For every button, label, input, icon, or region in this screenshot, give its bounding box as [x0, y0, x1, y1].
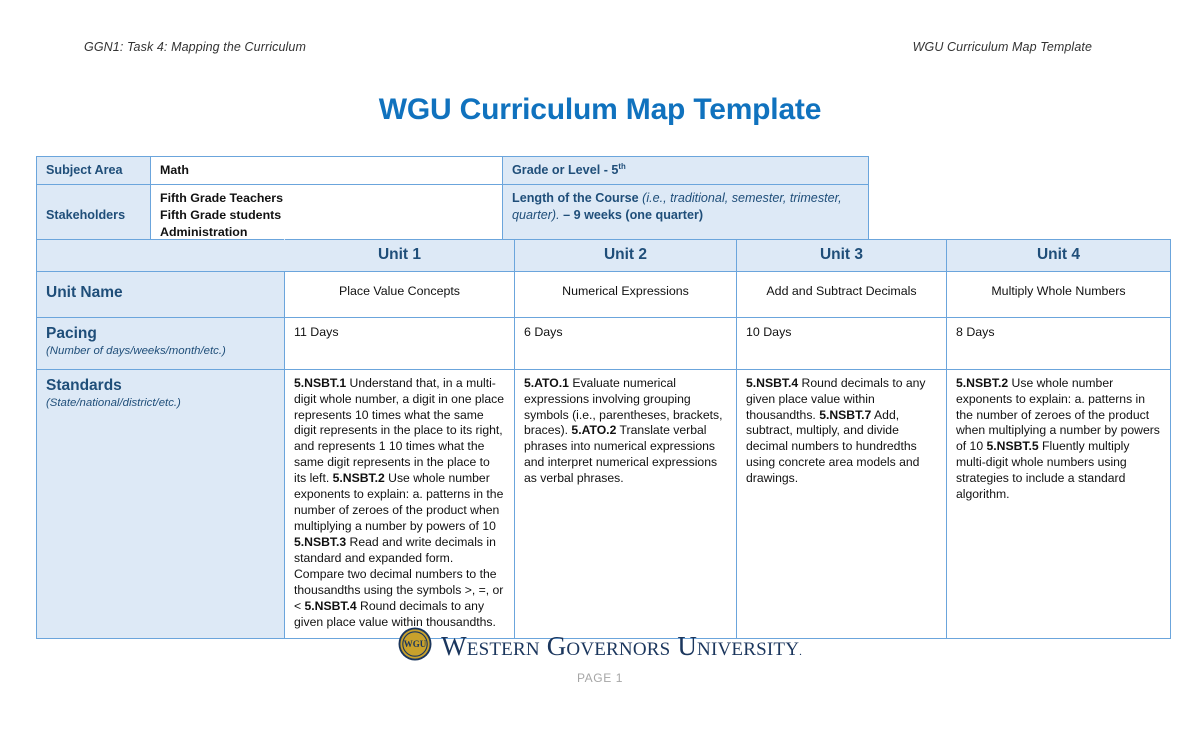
- unit-name-label: Unit Name: [37, 272, 285, 318]
- document-footer: WGU Western Governors University.: [0, 626, 1200, 666]
- header-right-text: WGU Curriculum Map Template: [913, 40, 1092, 54]
- unit-name-value-3[interactable]: Add and Subtract Decimals: [737, 272, 947, 318]
- wgu-logo: WGU Western Governors University.: [398, 626, 802, 666]
- standard-code: 5.NSBT.2: [333, 471, 385, 485]
- page-number: PAGE 1: [0, 671, 1200, 685]
- pacing-label-cell: Pacing (Number of days/weeks/month/etc.): [37, 317, 285, 369]
- unit-header-2: Unit 2: [515, 240, 737, 272]
- wgu-logo-wordmark: Western Governors University.: [441, 631, 802, 662]
- wgu-logo-text: Western Governors University: [441, 631, 799, 661]
- length-of-course-cell[interactable]: Length of the Course (i.e., traditional,…: [503, 185, 869, 247]
- wgu-logo-mark: .: [799, 646, 802, 658]
- grade-or-level-label: Grade or Level - 5: [512, 163, 618, 177]
- length-of-course-label: Length of the Course: [512, 191, 639, 205]
- stakeholder-item: Fifth Grade Teachers: [160, 190, 494, 207]
- standards-value-3[interactable]: 5.NSBT.4 Round decimals to any given pla…: [737, 369, 947, 639]
- standards-value-4[interactable]: 5.NSBT.2 Use whole number exponents to e…: [947, 369, 1171, 639]
- table-row-unit-headers: Unit 1 Unit 2 Unit 3 Unit 4: [37, 240, 1171, 272]
- document-header: GGN1: Task 4: Mapping the Curriculum WGU…: [84, 40, 1092, 54]
- stakeholder-item: Fifth Grade students: [160, 207, 494, 224]
- table-row-unit-name: Unit Name Place Value Concepts Numerical…: [37, 272, 1171, 318]
- pacing-value-1[interactable]: 11 Days: [285, 317, 515, 369]
- standard-code: 5.NSBT.4: [305, 599, 357, 613]
- subject-area-value[interactable]: Math: [151, 157, 503, 185]
- length-of-course-value: – 9 weeks (one quarter): [560, 208, 703, 222]
- subject-area-label: Subject Area: [37, 157, 151, 185]
- standard-text: Understand that, in a multi-digit whole …: [294, 376, 504, 486]
- standard-code: 5.NSBT.2: [956, 376, 1008, 390]
- pacing-sublabel: (Number of days/weeks/month/etc.): [46, 345, 276, 359]
- unit-header-spacer: [37, 240, 285, 272]
- page-title: WGU Curriculum Map Template: [0, 93, 1200, 127]
- pacing-value-2[interactable]: 6 Days: [515, 317, 737, 369]
- unit-header-3: Unit 3: [737, 240, 947, 272]
- header-left-text: GGN1: Task 4: Mapping the Curriculum: [84, 40, 306, 54]
- table-row-stakeholders-length: Stakeholders Fifth Grade Teachers Fifth …: [37, 185, 869, 247]
- standards-value-1[interactable]: 5.NSBT.1 Understand that, in a multi-dig…: [285, 369, 515, 639]
- course-info-table: Subject Area Math Grade or Level - 5th S…: [36, 156, 869, 247]
- standard-code: 5.ATO.1: [524, 376, 569, 390]
- standard-code: 5.NSBT.7: [819, 408, 871, 422]
- document-page: GGN1: Task 4: Mapping the Curriculum WGU…: [0, 0, 1200, 729]
- standards-value-2[interactable]: 5.ATO.1 Evaluate numerical expressions i…: [515, 369, 737, 639]
- standard-code: 5.NSBT.3: [294, 535, 346, 549]
- standards-label-cell: Standards (State/national/district/etc.): [37, 369, 285, 639]
- stakeholders-label: Stakeholders: [37, 185, 151, 247]
- standard-code: 5.NSBT.1: [294, 376, 346, 390]
- pacing-value-3[interactable]: 10 Days: [737, 317, 947, 369]
- unit-name-value-1[interactable]: Place Value Concepts: [285, 272, 515, 318]
- grade-or-level-cell[interactable]: Grade or Level - 5th: [503, 157, 869, 185]
- pacing-value-4[interactable]: 8 Days: [947, 317, 1171, 369]
- curriculum-unit-table: Unit 1 Unit 2 Unit 3 Unit 4 Unit Name Pl…: [36, 239, 1171, 639]
- unit-name-value-4[interactable]: Multiply Whole Numbers: [947, 272, 1171, 318]
- pacing-label: Pacing: [46, 325, 97, 342]
- standard-code: 5.NSBT.4: [746, 376, 798, 390]
- stakeholders-value[interactable]: Fifth Grade Teachers Fifth Grade student…: [151, 185, 503, 247]
- standards-label: Standards: [46, 377, 122, 394]
- svg-text:WGU: WGU: [404, 639, 427, 649]
- unit-header-4: Unit 4: [947, 240, 1171, 272]
- unit-name-value-2[interactable]: Numerical Expressions: [515, 272, 737, 318]
- standard-code: 5.ATO.2: [571, 423, 616, 437]
- table-row-subject-grade: Subject Area Math Grade or Level - 5th: [37, 157, 869, 185]
- standard-code: 5.NSBT.5: [987, 439, 1039, 453]
- table-row-pacing: Pacing (Number of days/weeks/month/etc.)…: [37, 317, 1171, 369]
- grade-ordinal-suffix: th: [618, 162, 625, 171]
- wgu-seal-icon: WGU: [398, 627, 432, 666]
- unit-header-1: Unit 1: [285, 240, 515, 272]
- standards-sublabel: (State/national/district/etc.): [46, 397, 276, 411]
- table-row-standards: Standards (State/national/district/etc.)…: [37, 369, 1171, 639]
